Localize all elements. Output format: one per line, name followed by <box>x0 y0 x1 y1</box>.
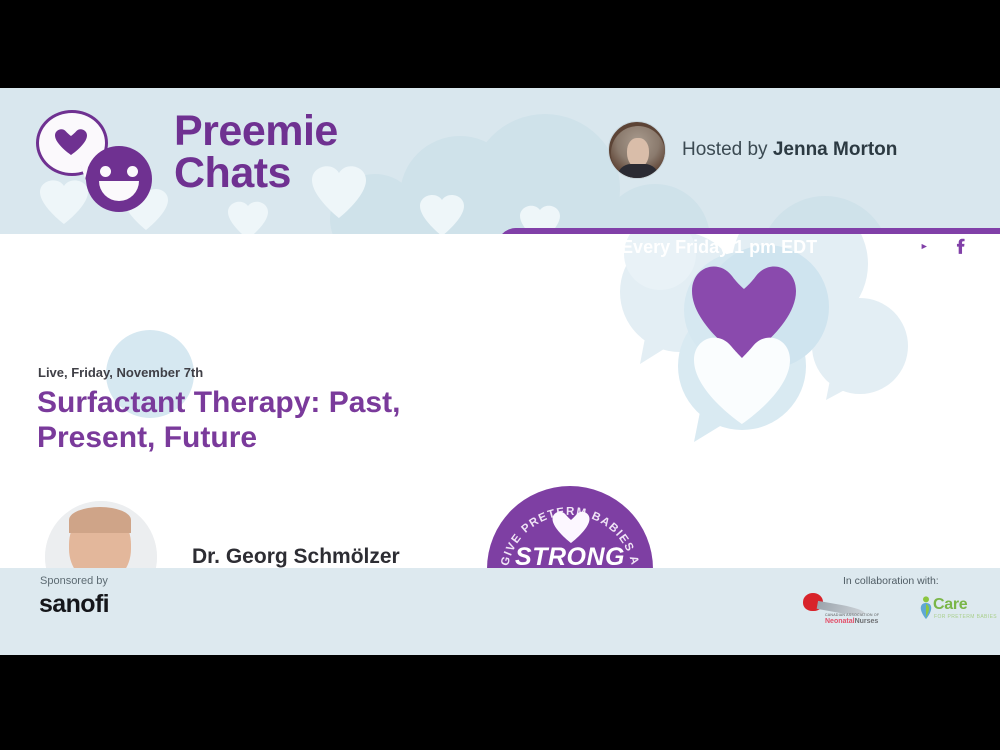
canadian-association-of-neonatal-nurses-logo: CANADIAN ASSOCIATION OF NeonatalNurses <box>803 591 891 631</box>
letterbox-bottom <box>0 655 1000 750</box>
slide-footer: Sponsored by sanofi In collaboration wit… <box>0 568 1000 655</box>
smiley-face-icon <box>86 146 152 212</box>
preemie-chats-logo <box>34 110 164 210</box>
cann-name-grey: Nurses <box>855 618 879 625</box>
speaker-name: Dr. Georg Schmölzer <box>192 545 400 568</box>
avatar-shirt <box>617 164 659 178</box>
heart-icon <box>551 508 591 544</box>
smiley-eye <box>127 166 138 177</box>
brand-line-1: Preemie <box>174 110 338 152</box>
banner-schedule: Every Friday 1 pm EDT <box>621 237 817 257</box>
brand-line-2: Chats <box>174 152 338 194</box>
leaf-person-icon <box>919 596 933 620</box>
host-avatar <box>608 121 666 179</box>
video-player-frame: Preemie Chats Hosted by Jenna Morton Joi… <box>0 0 1000 750</box>
social-links[interactable] <box>875 235 972 258</box>
banner-lead: Join us! <box>554 237 621 257</box>
brand-wordmark: Preemie Chats <box>174 110 338 194</box>
icare-word: Care <box>933 596 967 614</box>
host-prefix: Hosted by <box>682 139 773 160</box>
page-title: Surfactant Therapy: Past, Present, Futur… <box>37 386 507 456</box>
facebook-icon[interactable] <box>949 235 972 258</box>
collaboration-label: In collaboration with: <box>843 575 939 587</box>
banner-text: Join us! Every Friday 1 pm EDT <box>554 237 817 258</box>
cann-tagline: CANADIAN ASSOCIATION OF <box>825 613 879 617</box>
host-block: Hosted by Jenna Morton <box>608 121 897 179</box>
youtube-icon[interactable] <box>912 235 935 258</box>
letterbox-top <box>0 0 1000 88</box>
cann-name: NeonatalNurses <box>825 618 878 625</box>
icare-logo: Care FOR PRETERM BABIES <box>917 594 985 628</box>
smiley-mouth <box>99 181 139 201</box>
icare-sub: FOR PRETERM BABIES <box>934 614 997 620</box>
live-date: Live, Friday, November 7th <box>38 365 203 380</box>
x-twitter-icon[interactable] <box>875 235 898 258</box>
slide-header: Preemie Chats Hosted by Jenna Morton <box>0 88 1000 234</box>
partner-logos: CANADIAN ASSOCIATION OF NeonatalNurses C… <box>803 590 993 632</box>
host-credit: Hosted by Jenna Morton <box>682 139 897 161</box>
sanofi-logo: sanofi <box>39 590 109 619</box>
smiley-eye <box>100 166 111 177</box>
host-name: Jenna Morton <box>773 139 898 160</box>
heart-icon <box>54 126 88 156</box>
speaker-photo <box>45 501 157 568</box>
cann-name-red: Neonatal <box>825 618 855 625</box>
photo-hair <box>69 507 131 533</box>
sponsor-label: Sponsored by <box>40 575 108 587</box>
slide-content: Preemie Chats Hosted by Jenna Morton Joi… <box>0 88 1000 655</box>
